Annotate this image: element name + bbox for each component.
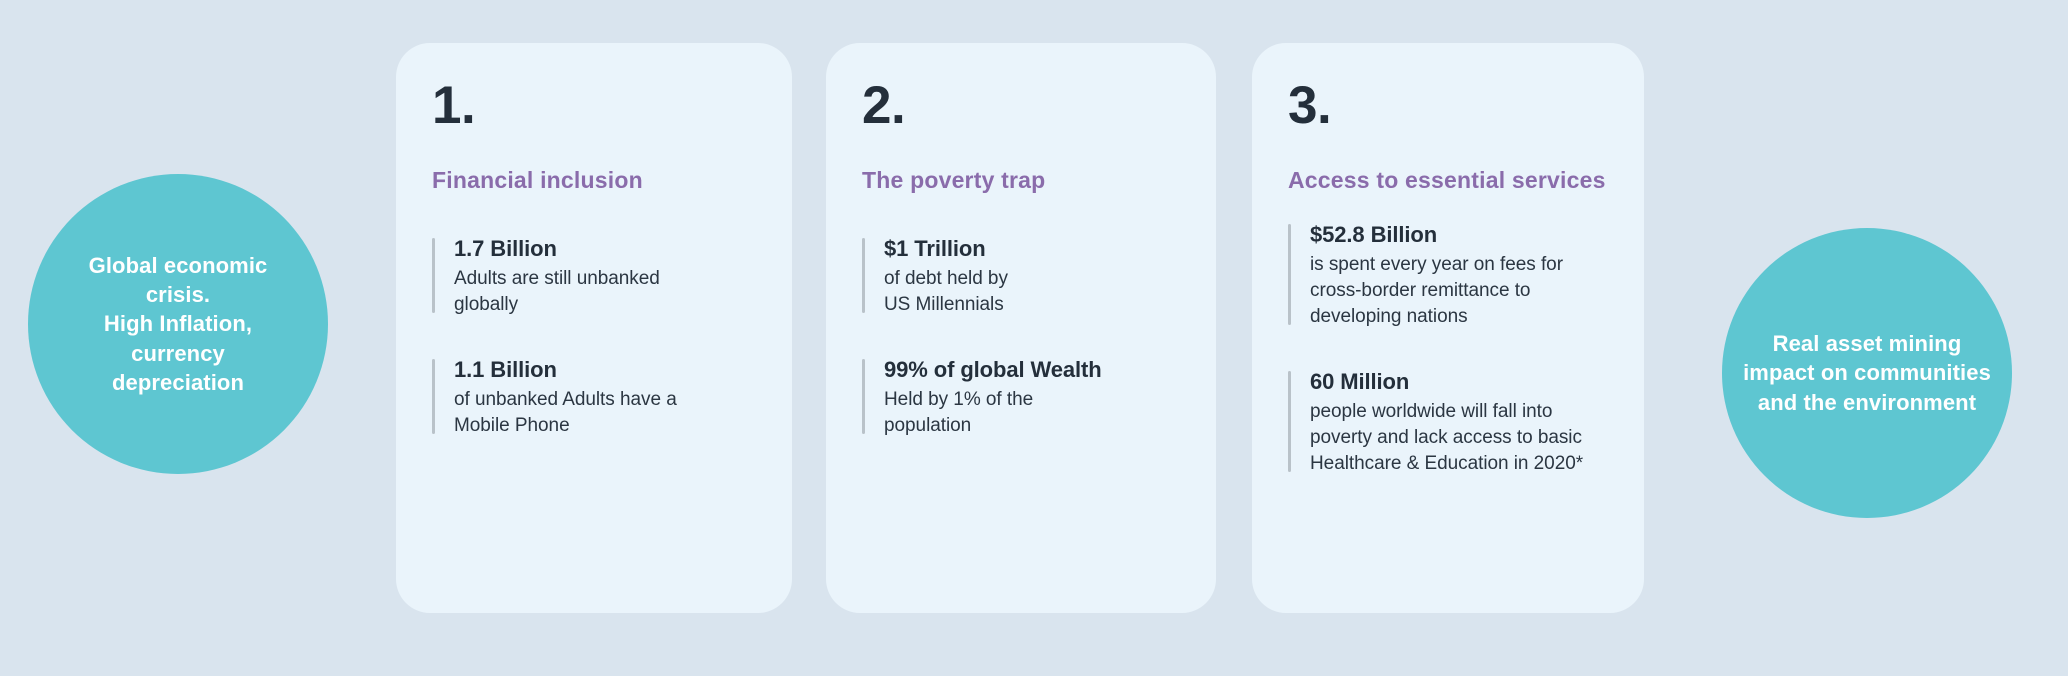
stat-description: Held by 1% of the population (884, 387, 1182, 439)
card-1-title: Financial inclusion (432, 166, 758, 195)
pillar-card-1[interactable]: 1. Financial inclusion 1.7 Billion Adult… (396, 43, 792, 613)
pillar-card-3[interactable]: 3. Access to essential services $52.8 Bi… (1252, 43, 1644, 613)
stat-description: of unbanked Adults have a Mobile Phone (454, 387, 758, 439)
card-2-stat-list: $1 Trillion of debt held by US Millennia… (862, 235, 1182, 438)
stat-accent-rule (432, 359, 435, 434)
stat-value: $52.8 Billion (1310, 221, 1610, 250)
pillar-card-2[interactable]: 2. The poverty trap $1 Trillion of debt … (826, 43, 1216, 613)
card-3-number: 3. (1288, 79, 1610, 132)
stat-value: 60 Million (1310, 368, 1610, 397)
stat-description: of debt held by US Millennials (884, 266, 1182, 318)
stat-value: 1.7 Billion (454, 235, 758, 264)
stat-accent-rule (862, 238, 865, 313)
left-circle-label: Global economic crisis. High Inflation, … (78, 251, 278, 397)
left-context-circle: Global economic crisis. High Inflation, … (28, 174, 328, 474)
stat-item: $52.8 Billion is spent every year on fee… (1288, 221, 1610, 330)
right-context-circle: Real asset mining impact on communities … (1722, 228, 2012, 518)
card-2-title: The poverty trap (862, 166, 1182, 195)
stat-item: 60 Million people worldwide will fall in… (1288, 368, 1610, 477)
card-1-number: 1. (432, 79, 758, 132)
stat-value: 1.1 Billion (454, 356, 758, 385)
card-3-title: Access to essential services (1288, 166, 1610, 195)
stat-accent-rule (1288, 224, 1291, 325)
right-circle-label: Real asset mining impact on communities … (1742, 329, 1992, 417)
stat-accent-rule (862, 359, 865, 434)
infographic-canvas: Global economic crisis. High Inflation, … (0, 0, 2068, 676)
stat-description: people worldwide will fall into poverty … (1310, 399, 1610, 477)
stat-value: 99% of global Wealth (884, 356, 1182, 385)
stat-accent-rule (1288, 371, 1291, 472)
stat-item: 99% of global Wealth Held by 1% of the p… (862, 356, 1182, 439)
stat-accent-rule (432, 238, 435, 313)
stat-description: is spent every year on fees for cross-bo… (1310, 252, 1610, 330)
card-2-number: 2. (862, 79, 1182, 132)
card-3-stat-list: $52.8 Billion is spent every year on fee… (1288, 221, 1610, 476)
stat-item: $1 Trillion of debt held by US Millennia… (862, 235, 1182, 318)
stat-item: 1.7 Billion Adults are still unbanked gl… (432, 235, 758, 318)
card-1-stat-list: 1.7 Billion Adults are still unbanked gl… (432, 235, 758, 438)
stat-description: Adults are still unbanked globally (454, 266, 758, 318)
stat-value: $1 Trillion (884, 235, 1182, 264)
stat-item: 1.1 Billion of unbanked Adults have a Mo… (432, 356, 758, 439)
